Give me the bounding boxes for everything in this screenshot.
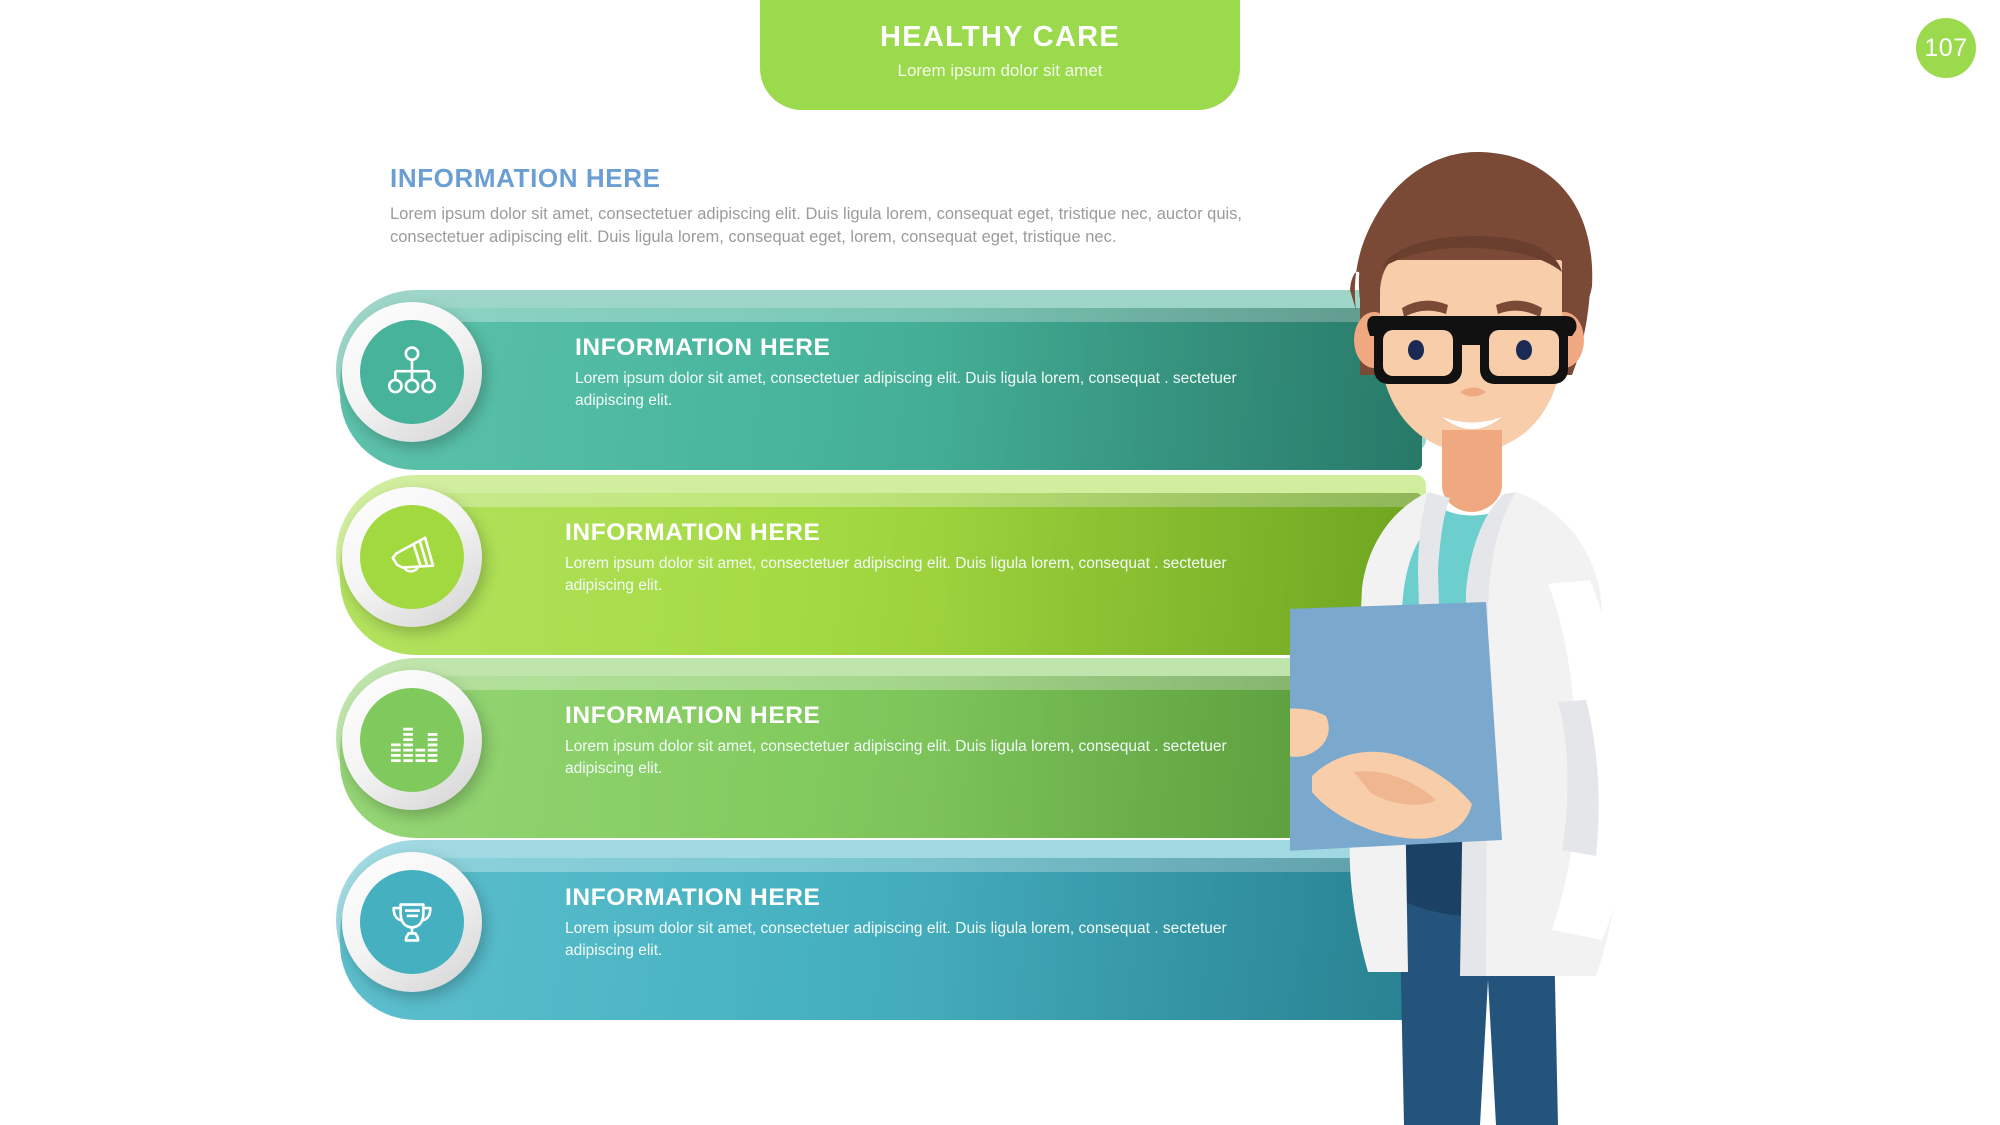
row-title: INFORMATION HERE	[565, 519, 1265, 547]
row-icon-disc	[360, 688, 464, 792]
hierarchy-icon	[384, 344, 440, 400]
intro-body: Lorem ipsum dolor sit amet, consectetuer…	[390, 203, 1310, 250]
row-title: INFORMATION HERE	[575, 334, 1275, 362]
row-icon-badge[interactable]	[342, 487, 482, 627]
row-title: INFORMATION HERE	[565, 702, 1265, 730]
slide-canvas: HEALTHY CARE Lorem ipsum dolor sit amet …	[0, 0, 2000, 1125]
row-icon-badge[interactable]	[342, 302, 482, 442]
row-body: Lorem ipsum dolor sit amet, consectetuer…	[565, 553, 1265, 597]
row-text: INFORMATION HERE Lorem ipsum dolor sit a…	[565, 519, 1265, 597]
row-icon-badge[interactable]	[342, 670, 482, 810]
page-subtitle: Lorem ipsum dolor sit amet	[760, 61, 1240, 81]
male-doctor-with-clipboard-svg	[1290, 140, 1710, 1125]
trophy-icon	[384, 894, 440, 950]
intro-block: INFORMATION HERE Lorem ipsum dolor sit a…	[390, 163, 1310, 250]
row-icon-disc	[360, 320, 464, 424]
equalizer-icon	[384, 712, 440, 768]
info-row-4[interactable]: INFORMATION HERE Lorem ipsum dolor sit a…	[0, 840, 1460, 1026]
row-text: INFORMATION HERE Lorem ipsum dolor sit a…	[565, 702, 1265, 780]
page-title: HEALTHY CARE	[760, 22, 1240, 52]
row-text: INFORMATION HERE Lorem ipsum dolor sit a…	[565, 884, 1265, 962]
header-banner: HEALTHY CARE Lorem ipsum dolor sit amet	[760, 0, 1240, 110]
info-row-3[interactable]: INFORMATION HERE Lorem ipsum dolor sit a…	[0, 658, 1460, 844]
row-icon-badge[interactable]	[342, 852, 482, 992]
doctor-illustration	[1290, 140, 1710, 1125]
megaphone-icon	[384, 529, 440, 585]
info-row-1[interactable]: INFORMATION HERE Lorem ipsum dolor sit a…	[0, 290, 1460, 476]
row-body: Lorem ipsum dolor sit amet, consectetuer…	[565, 918, 1265, 962]
eye-left	[1408, 340, 1424, 360]
eye-right	[1516, 340, 1532, 360]
row-icon-disc	[360, 870, 464, 974]
row-icon-disc	[360, 505, 464, 609]
info-row-2[interactable]: INFORMATION HERE Lorem ipsum dolor sit a…	[0, 475, 1460, 661]
neck	[1442, 430, 1502, 512]
row-title: INFORMATION HERE	[565, 884, 1265, 912]
page-number-badge: 107	[1916, 18, 1976, 78]
row-body: Lorem ipsum dolor sit amet, consectetuer…	[565, 736, 1265, 780]
intro-title: INFORMATION HERE	[390, 163, 1310, 194]
row-text: INFORMATION HERE Lorem ipsum dolor sit a…	[575, 334, 1275, 412]
row-body: Lorem ipsum dolor sit amet, consectetuer…	[575, 368, 1275, 412]
